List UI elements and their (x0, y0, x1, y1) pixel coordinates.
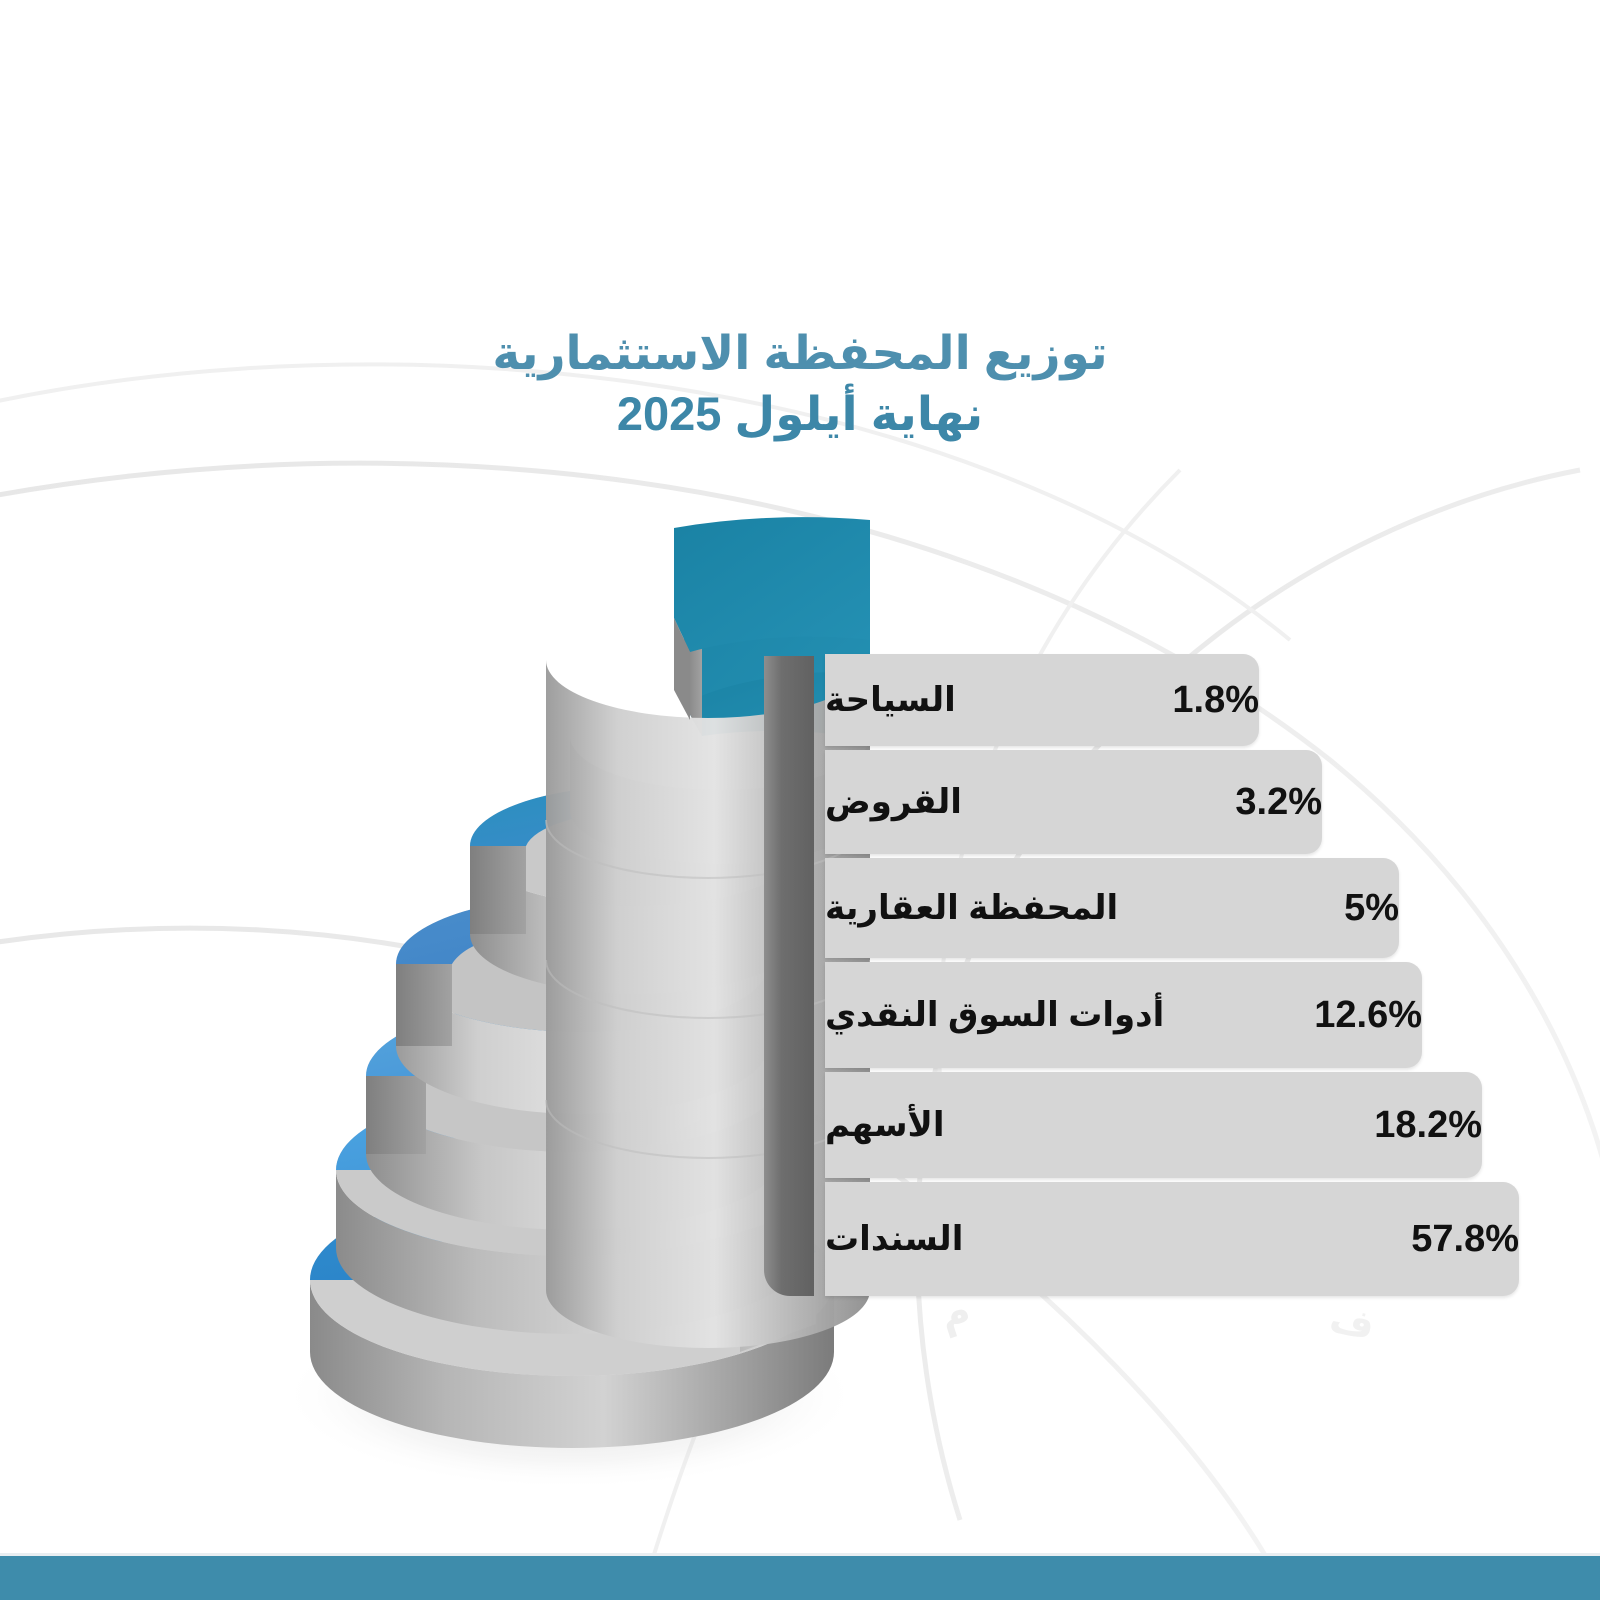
legend-value-real-estate: 5% (1322, 887, 1399, 930)
legend-label-bonds: السندات (825, 1219, 989, 1259)
legend-row-tourism[interactable]: السياحة 1.8% (825, 654, 1259, 746)
legend-value-money-market: 12.6% (1292, 994, 1422, 1037)
legend-value-loans: 3.2% (1213, 781, 1322, 824)
legend-row-real-estate[interactable]: المحفظة العقارية 5% (825, 858, 1399, 958)
legend-value-tourism: 1.8% (1150, 679, 1259, 722)
legend-label-real-estate: المحفظة العقارية (825, 888, 1144, 928)
legend-label-loans: القروض (825, 782, 988, 822)
infographic-canvas: م ف توزيع المحفظة الاستثمارية نهاية أيلو… (0, 0, 1600, 1600)
legend-row-bonds[interactable]: السندات 57.8% (825, 1182, 1519, 1296)
legend-value-bonds: 57.8% (1389, 1218, 1519, 1261)
bottom-accent-bar (0, 1556, 1600, 1600)
legend-label-tourism: السياحة (825, 680, 982, 720)
legend: السياحة 1.8% القروض 3.2% المحفظة العقاري… (764, 648, 1484, 1318)
legend-row-loans[interactable]: القروض 3.2% (825, 750, 1322, 854)
legend-value-equities: 18.2% (1352, 1104, 1482, 1147)
legend-label-money-market: أدوات السوق النقدي (825, 995, 1190, 1035)
title-line-1: توزيع المحفظة الاستثمارية (0, 322, 1600, 383)
legend-row-equities[interactable]: الأسهم 18.2% (825, 1072, 1482, 1178)
legend-row-money-market[interactable]: أدوات السوق النقدي 12.6% (825, 962, 1422, 1068)
legend-spine (764, 656, 814, 1296)
title-line-2: نهاية أيلول 2025 (0, 383, 1600, 444)
legend-label-equities: الأسهم (825, 1105, 971, 1145)
chart-title: توزيع المحفظة الاستثمارية نهاية أيلول 20… (0, 322, 1600, 444)
